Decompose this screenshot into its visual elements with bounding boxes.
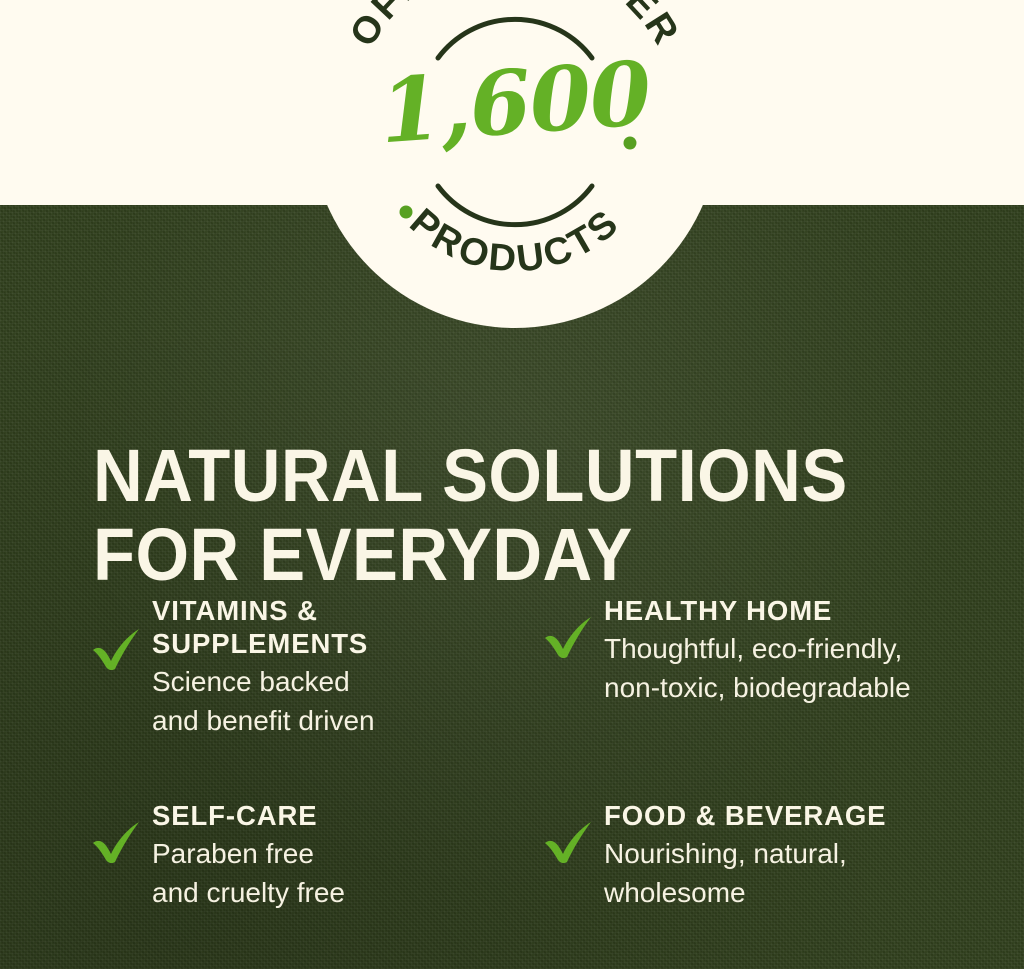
feature-desc-line-2: non-toxic, biodegradable [604,669,984,708]
checkmark-icon [542,819,604,865]
feature-description: Nourishing, natural, wholesome [604,835,984,912]
feature-title: HEALTHY HOME [604,594,984,627]
headline-line-1: NATURAL SOLUTIONS [93,436,911,515]
feature-description: Thoughtful, eco-friendly, non-toxic, bio… [604,630,984,707]
feature-desc-line-1: Thoughtful, eco-friendly, [604,630,984,669]
headline-line-2: FOR EVERYDAY [93,515,911,594]
offering-over-seal: OFFERING OVER PRODUCTS 1,600 [310,0,720,328]
feature-title-line-1: VITAMINS & [152,595,318,626]
feature-title: VITAMINS & SUPPLEMENTS [152,594,536,660]
feature-desc-line-2: and cruelty free [152,874,536,913]
promo-poster: OFFERING OVER PRODUCTS 1,600 NATURAL SOL… [0,0,1024,969]
seal-arc-bottom-text: PRODUCTS [402,201,629,281]
page-title: NATURAL SOLUTIONS FOR EVERYDAY [93,436,911,594]
feature-desc-line-1: Science backed [152,663,536,702]
feature-item-food-beverage: FOOD & BEVERAGE Nourishing, natural, who… [536,797,984,912]
feature-list: VITAMINS & SUPPLEMENTS Science backed an… [84,592,984,912]
feature-desc-line-1: Nourishing, natural, [604,835,984,874]
feature-text: FOOD & BEVERAGE Nourishing, natural, who… [604,797,984,912]
feature-desc-line-2: and benefit driven [152,702,536,741]
checkmark-icon [90,626,152,672]
feature-text: SELF-CARE Paraben free and cruelty free [152,797,536,912]
feature-title-line-1: SELF-CARE [152,800,317,831]
feature-title-line-2: SUPPLEMENTS [152,628,368,659]
feature-desc-line-2: wholesome [604,874,984,913]
feature-description: Paraben free and cruelty free [152,835,536,912]
feature-description: Science backed and benefit driven [152,663,536,740]
feature-item-self-care: SELF-CARE Paraben free and cruelty free [84,797,536,912]
seal-dot-left-icon [400,206,413,219]
feature-title: SELF-CARE [152,799,536,832]
feature-text: VITAMINS & SUPPLEMENTS Science backed an… [152,592,536,740]
feature-item-vitamins-supplements: VITAMINS & SUPPLEMENTS Science backed an… [84,592,536,797]
feature-desc-line-1: Paraben free [152,835,536,874]
feature-item-healthy-home: HEALTHY HOME Thoughtful, eco-friendly, n… [536,592,984,797]
feature-title-line-1: HEALTHY HOME [604,595,832,626]
feature-text: HEALTHY HOME Thoughtful, eco-friendly, n… [604,592,984,707]
checkmark-icon [542,614,604,660]
seal-arc-bottom-swoosh [438,186,592,225]
feature-title: FOOD & BEVERAGE [604,799,984,832]
feature-title-line-1: FOOD & BEVERAGE [604,800,886,831]
checkmark-icon [90,819,152,865]
